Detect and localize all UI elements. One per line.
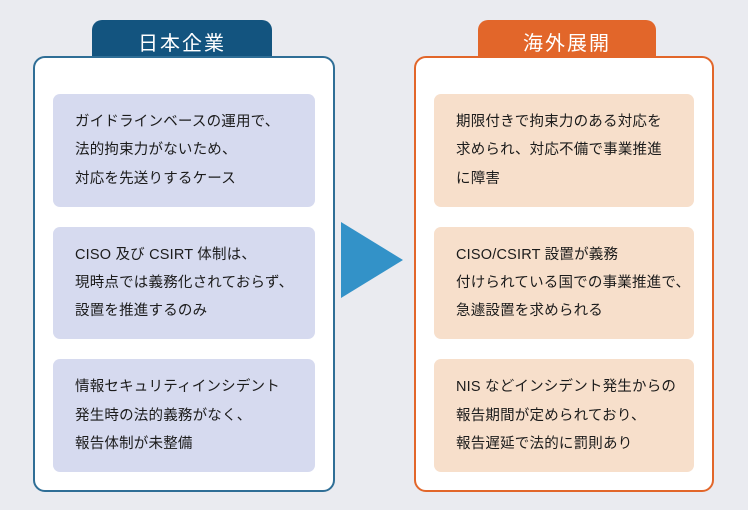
card-japan-3: 情報セキュリティインシデント 発生時の法的義務がなく、 報告体制が未整備 — [53, 359, 315, 472]
right-triangle-arrow-icon — [341, 222, 403, 298]
card-overseas-1: 期限付きで拘束力のある対応を 求められ、対応不備で事業推進 に障害 — [434, 94, 694, 207]
card-overseas-1-line-3: に障害 — [456, 165, 678, 193]
card-japan-1-line-1: ガイドラインベースの運用で、 — [75, 108, 299, 136]
card-japan-2-line-1: CISO 及び CSIRT 体制は、 — [75, 241, 299, 269]
card-overseas-2: CISO/CSIRT 設置が義務 付けられている国での事業推進で、 急遽設置を求… — [434, 227, 694, 340]
comparison-diagram: 日本企業 ガイドラインベースの運用で、 法的拘束力がないため、 対応を先送りする… — [0, 0, 748, 510]
card-japan-2: CISO 及び CSIRT 体制は、 現時点では義務化されておらず、 設置を推進… — [53, 227, 315, 340]
column-panel-japan: ガイドラインベースの運用で、 法的拘束力がないため、 対応を先送りするケース C… — [33, 56, 335, 492]
card-list-overseas: 期限付きで拘束力のある対応を 求められ、対応不備で事業推進 に障害 CISO/C… — [434, 94, 694, 472]
card-overseas-3: NIS などインシデント発生からの 報告期間が定められており、 報告遅延で法的に… — [434, 359, 694, 472]
card-japan-2-line-3: 設置を推進するのみ — [75, 297, 299, 325]
card-japan-1-line-2: 法的拘束力がないため、 — [75, 136, 299, 164]
column-header-overseas-label: 海外展開 — [523, 27, 611, 56]
card-overseas-1-line-2: 求められ、対応不備で事業推進 — [456, 136, 678, 164]
card-japan-2-line-2: 現時点では義務化されておらず、 — [75, 269, 299, 297]
card-japan-3-line-3: 報告体制が未整備 — [75, 430, 299, 458]
card-overseas-2-line-3: 急遽設置を求められる — [456, 297, 678, 325]
card-japan-3-line-1: 情報セキュリティインシデント — [75, 373, 299, 401]
column-header-japan-label: 日本企業 — [138, 27, 226, 56]
card-japan-1-line-3: 対応を先送りするケース — [75, 165, 299, 193]
card-overseas-3-line-1: NIS などインシデント発生からの — [456, 373, 678, 401]
column-panel-overseas: 期限付きで拘束力のある対応を 求められ、対応不備で事業推進 に障害 CISO/C… — [414, 56, 714, 492]
card-overseas-2-line-2: 付けられている国での事業推進で、 — [456, 269, 678, 297]
card-japan-3-line-2: 発生時の法的義務がなく、 — [75, 402, 299, 430]
card-overseas-2-line-1: CISO/CSIRT 設置が義務 — [456, 241, 678, 269]
card-japan-1: ガイドラインベースの運用で、 法的拘束力がないため、 対応を先送りするケース — [53, 94, 315, 207]
card-list-japan: ガイドラインベースの運用で、 法的拘束力がないため、 対応を先送りするケース C… — [53, 94, 315, 472]
card-overseas-1-line-1: 期限付きで拘束力のある対応を — [456, 108, 678, 136]
card-overseas-3-line-3: 報告遅延で法的に罰則あり — [456, 430, 678, 458]
card-overseas-3-line-2: 報告期間が定められており、 — [456, 402, 678, 430]
